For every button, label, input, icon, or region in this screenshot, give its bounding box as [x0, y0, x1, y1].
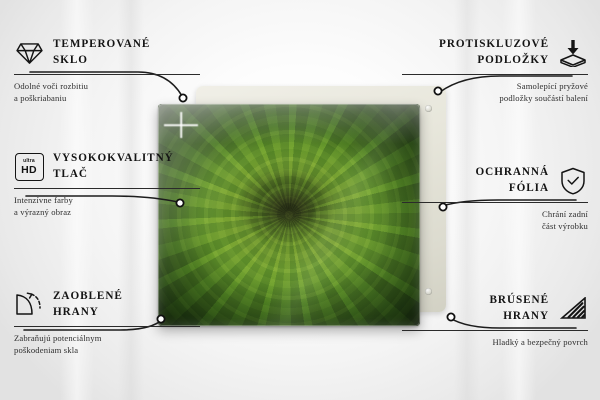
feature-title-line1: PROTISKLUZOVÉ — [439, 37, 549, 53]
feature-divider — [14, 188, 200, 189]
feature-header: PROTISKLUZOVÉ PODLOŽKY — [402, 36, 588, 70]
feature-description: Odolné voči rozbitiu a poškriabaniu — [14, 80, 200, 105]
feature-desc-line2: část výrobku — [402, 220, 588, 232]
feature-title: BRÚSENÉ HRANY — [490, 293, 550, 325]
feature-divider — [402, 74, 588, 75]
feature-title-line1: OCHRANNÁ — [476, 165, 549, 181]
feature-title: ZAOBLENÉ HRANY — [53, 289, 123, 321]
feature-desc-line1: Chrání zadní — [402, 208, 588, 220]
feature-title-line1: TEMPEROVANÉ — [53, 37, 150, 53]
feature-divider — [402, 330, 588, 331]
feature-description: Hladký a bezpečný povrch — [402, 336, 588, 348]
feature-title-line2: FÓLIA — [476, 181, 549, 197]
feature-desc-line2: poškodeniam skla — [14, 344, 200, 356]
feature-title-line2: HRANY — [490, 309, 550, 325]
hd-badge-ultra-text: ultra — [23, 159, 35, 164]
feature-header: ultra HD VYSOKOKVALITNÝ TLAČ — [14, 150, 200, 184]
feature-divider — [14, 326, 200, 327]
feature-title-line2: PODLOŽKY — [439, 53, 549, 69]
feature-antislip-pads: PROTISKLUZOVÉ PODLOŽKY Samolepící pryžov… — [402, 36, 588, 105]
feature-tempered-glass: TEMPEROVANÉ SKLO Odolné voči rozbitiu a … — [14, 36, 200, 105]
feature-title-line1: ZAOBLENÉ — [53, 289, 123, 305]
feature-header: TEMPEROVANÉ SKLO — [14, 36, 200, 70]
feature-title-line2: HRANY — [53, 305, 123, 321]
feature-title-line2: SKLO — [53, 53, 150, 69]
ultra-hd-badge-icon: ultra HD — [14, 152, 44, 182]
feature-header: ZAOBLENÉ HRANY — [14, 288, 200, 322]
feature-description: Chrání zadní část výrobku — [402, 208, 588, 233]
product-infographic: TEMPEROVANÉ SKLO Odolné voči rozbitiu a … — [0, 0, 600, 400]
hd-badge: ultra HD — [15, 153, 44, 181]
feature-rounded-edges: ZAOBLENÉ HRANY Zabraňujú potenciálnym po… — [14, 288, 200, 357]
feature-desc-line2: a výrazný obraz — [14, 206, 200, 218]
feature-desc-line2: a poškriabaniu — [14, 92, 200, 104]
feature-desc-line1: Zabraňujú potenciálnym — [14, 332, 200, 344]
feature-divider — [14, 74, 200, 75]
feature-title: VYSOKOKVALITNÝ TLAČ — [53, 151, 174, 183]
hd-badge-hd-text: HD — [21, 165, 37, 176]
feature-desc-line1: Samolepící pryžové — [402, 80, 588, 92]
feature-header: OCHRANNÁ FÓLIA — [402, 164, 588, 198]
press-pad-icon — [558, 38, 588, 68]
product-drop-shadow — [160, 322, 440, 334]
feature-description: Zabraňujú potenciálnym poškodeniam skla — [14, 332, 200, 357]
feature-desc-line1: Hladký a bezpečný povrch — [402, 336, 588, 348]
feature-desc-line2: podložky součástí balení — [402, 92, 588, 104]
feature-title: OCHRANNÁ FÓLIA — [476, 165, 549, 197]
feature-protective-film: OCHRANNÁ FÓLIA Chrání zadní část výrobku — [402, 164, 588, 233]
hatched-triangle-icon — [558, 294, 588, 324]
feature-title: PROTISKLUZOVÉ PODLOŽKY — [439, 37, 549, 69]
feature-hd-print: ultra HD VYSOKOKVALITNÝ TLAČ Intenzívne … — [14, 150, 200, 219]
feature-title-line1: VYSOKOKVALITNÝ — [53, 151, 174, 167]
feature-desc-line1: Intenzívne farby — [14, 194, 200, 206]
feature-title: TEMPEROVANÉ SKLO — [53, 37, 150, 69]
rounded-corner-icon — [14, 290, 44, 320]
feature-description: Samolepící pryžové podložky součástí bal… — [402, 80, 588, 105]
mounting-screw-icon — [425, 105, 432, 112]
feature-description: Intenzívne farby a výrazný obraz — [14, 194, 200, 219]
diamond-icon — [14, 38, 44, 68]
feature-header: BRÚSENÉ HRANY — [402, 292, 588, 326]
feature-brushed-edges: BRÚSENÉ HRANY Hladký a bezpečný povrch — [402, 292, 588, 348]
feature-divider — [402, 202, 588, 203]
feature-title-line2: TLAČ — [53, 167, 174, 183]
feature-desc-line1: Odolné voči rozbitiu — [14, 80, 200, 92]
shield-check-icon — [558, 166, 588, 196]
feature-title-line1: BRÚSENÉ — [490, 293, 550, 309]
